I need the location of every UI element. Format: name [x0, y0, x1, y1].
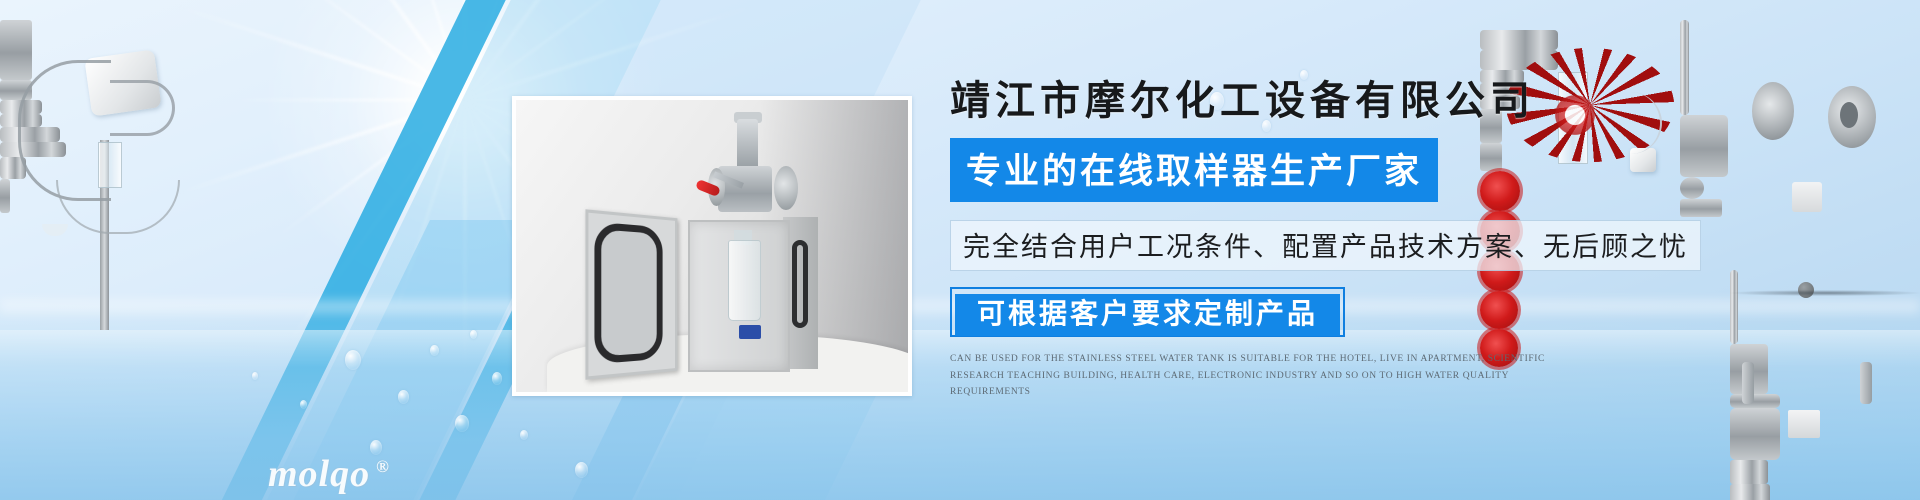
water-drop-icon	[575, 462, 588, 478]
product-render-left	[0, 20, 220, 320]
water-drop-icon	[455, 415, 469, 432]
brand-watermark: molqo®	[268, 452, 390, 496]
headline-badge: 专业的在线取样器生产厂家	[950, 138, 1438, 202]
subline-text: 完全结合用户工况条件、配置产品技术方案、无后顾之忧	[950, 220, 1701, 271]
product-render-flanged-valve	[1730, 270, 1920, 450]
water-drop-icon	[398, 390, 409, 404]
product-render-lever-valve	[1680, 20, 1920, 220]
product-hero-banner: 靖江市摩尔化工设备有限公司 专业的在线取样器生产厂家 完全结合用户工况条件、配置…	[0, 0, 1920, 500]
water-drop-icon	[252, 372, 258, 380]
product-photo-center	[512, 96, 912, 396]
water-drop-icon	[345, 350, 361, 370]
water-drop-icon	[300, 400, 307, 409]
hero-text-block: 靖江市摩尔化工设备有限公司 专业的在线取样器生产厂家 完全结合用户工况条件、配置…	[950, 80, 1710, 401]
english-description: CAN BE USED FOR THE STAINLESS STEEL WATE…	[950, 351, 1560, 401]
company-name: 靖江市摩尔化工设备有限公司	[950, 80, 1710, 122]
water-drop-icon	[520, 430, 528, 440]
callout-badge: 可根据客户要求定制产品	[950, 287, 1345, 337]
watermark-brand: molqo	[268, 453, 370, 495]
registered-trademark-icon: ®	[376, 457, 390, 476]
water-drop-icon	[430, 345, 439, 356]
callout-label: 可根据客户要求定制产品	[955, 294, 1340, 336]
water-drop-icon	[470, 330, 477, 339]
diagonal-stripe-accent	[183, 0, 535, 500]
water-drop-icon	[492, 372, 502, 385]
